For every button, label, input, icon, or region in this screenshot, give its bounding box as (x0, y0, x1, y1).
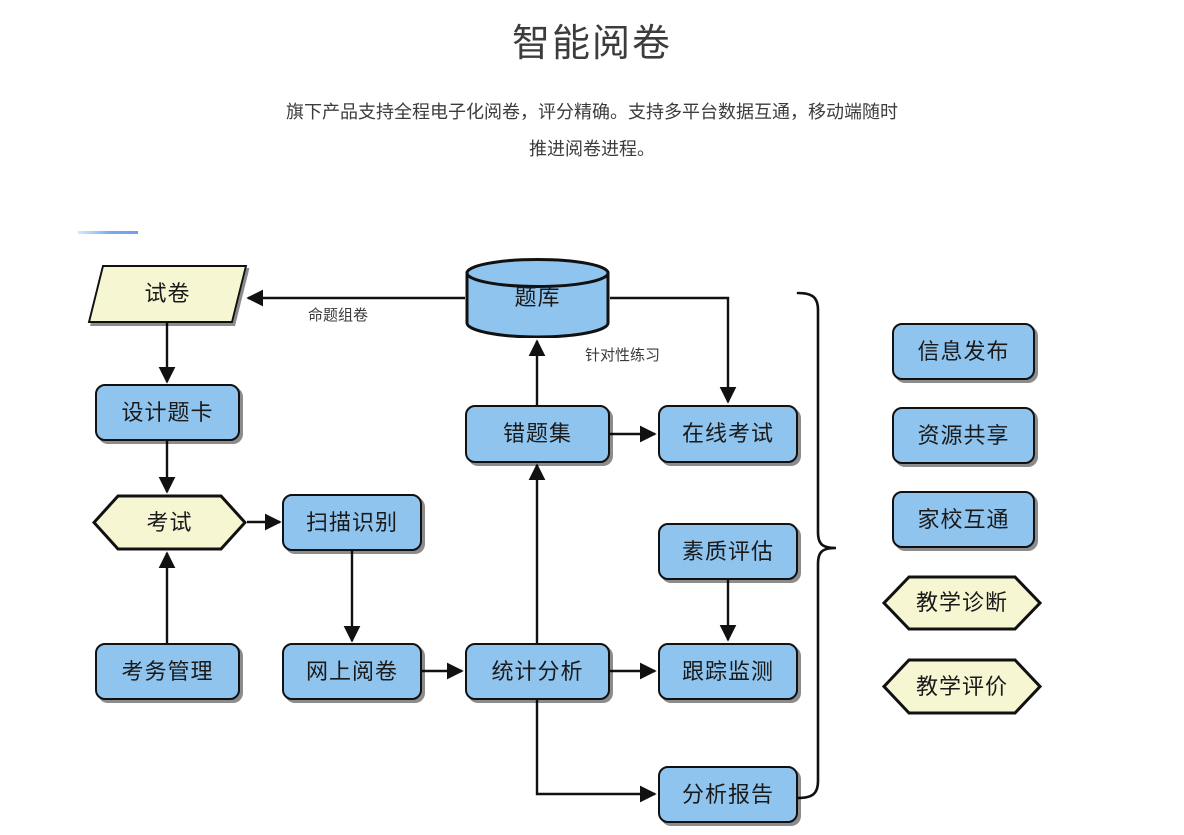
accent-rule (78, 231, 138, 234)
node-zaixiankaoshi[interactable]: 在线考试 (658, 405, 798, 463)
node-cuotiji[interactable]: 错题集 (465, 405, 610, 463)
node-label-saomiaoshibie: 扫描识别 (306, 512, 398, 534)
node-label-jiaoxuepingjia: 教学评价 (916, 676, 1008, 698)
page-subtitle: 旗下产品支持全程电子化阅卷，评分精确。支持多平台数据互通，移动端随时推进阅卷进程… (282, 68, 902, 170)
node-tongjifenxi[interactable]: 统计分析 (465, 643, 610, 700)
node-saomiaoshibie[interactable]: 扫描识别 (282, 494, 422, 551)
node-tiku[interactable]: 题库 (465, 258, 610, 338)
node-suzhipinggu[interactable]: 素质评估 (658, 523, 798, 580)
flowchart-diagram: 命题组卷 针对性练习 试卷 设计题卡 考试 考务管理 扫描识别 (0, 240, 1184, 835)
node-fenxibaogao[interactable]: 分析报告 (658, 766, 798, 823)
node-ziyuangongxiang[interactable]: 资源共享 (892, 407, 1035, 464)
node-label-shejitika: 设计题卡 (121, 402, 213, 424)
node-shijuan[interactable]: 试卷 (95, 265, 240, 323)
node-jiaoxuezhenduan[interactable]: 教学诊断 (882, 575, 1042, 631)
node-label-suzhipinggu: 素质评估 (682, 541, 774, 563)
node-xinxifabu[interactable]: 信息发布 (892, 323, 1035, 380)
node-label-shijuan: 试卷 (144, 283, 190, 305)
node-wangshangyuejuan[interactable]: 网上阅卷 (282, 643, 422, 700)
node-label-genzongjiance: 跟踪监测 (682, 661, 774, 683)
node-label-fenxibaogao: 分析报告 (682, 784, 774, 806)
node-label-tongjifenxi: 统计分析 (491, 661, 583, 683)
node-label-kaoshi: 考试 (146, 512, 192, 534)
node-label-zaixiankaoshi: 在线考试 (682, 423, 774, 445)
node-kaoshi[interactable]: 考试 (92, 494, 247, 551)
node-kaowuguanli[interactable]: 考务管理 (95, 643, 240, 700)
page-root: 智能阅卷 旗下产品支持全程电子化阅卷，评分精确。支持多平台数据互通，移动端随时推… (0, 0, 1184, 835)
node-label-wangshangyuejuan: 网上阅卷 (306, 661, 398, 683)
edge-label-zhenduixinglianxi: 针对性练习 (585, 344, 660, 365)
node-label-jiaxiaohutong: 家校互通 (917, 509, 1009, 531)
node-label-xinxifabu: 信息发布 (917, 341, 1009, 363)
node-shejitika[interactable]: 设计题卡 (95, 384, 240, 441)
node-jiaxiaohutong[interactable]: 家校互通 (892, 491, 1035, 548)
node-label-tiku: 题库 (514, 287, 560, 309)
node-label-kaowuguanli: 考务管理 (121, 661, 213, 683)
outcomes-brace (798, 293, 836, 798)
node-label-cuotiji: 错题集 (503, 423, 572, 445)
node-genzongjiance[interactable]: 跟踪监测 (658, 643, 798, 700)
node-jiaoxuepingjia[interactable]: 教学评价 (882, 658, 1042, 715)
edge-tongjifenxi-to-fenxibaogao (537, 700, 655, 794)
page-header: 智能阅卷 旗下产品支持全程电子化阅卷，评分精确。支持多平台数据互通，移动端随时推… (0, 0, 1184, 169)
node-label-jiaoxuezhenduan: 教学诊断 (916, 592, 1008, 614)
node-label-ziyuangongxiang: 资源共享 (917, 425, 1009, 447)
page-title: 智能阅卷 (0, 0, 1184, 68)
edge-label-mingtizujuan: 命题组卷 (308, 304, 368, 325)
